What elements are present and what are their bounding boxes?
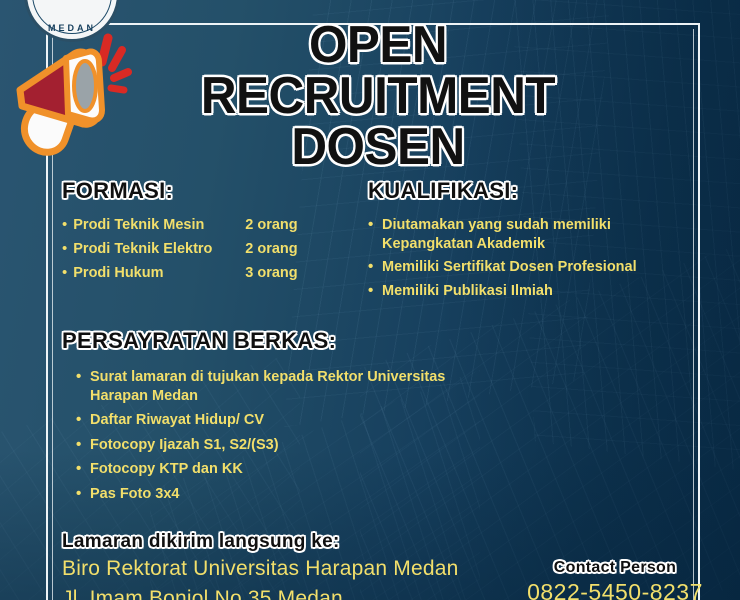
send-to-line-2: Jl. Imam Bonjol No 35 Medan: [62, 586, 522, 600]
megaphone-icon: [8, 28, 136, 160]
list-item: Fotocopy Ijazah S1, S2/(S3): [76, 436, 462, 455]
program-quota: 3 orang: [245, 265, 297, 281]
recruitment-poster: MEDAN OPEN RECRUITMENT DOSEN FORMAS: [0, 0, 740, 600]
berkas-section: PERSAYRATAN BERKAS: Surat lamaran di tuj…: [62, 328, 462, 509]
formasi-rows: • Prodi Teknik Mesin 2 orang • Prodi Tek…: [62, 217, 362, 281]
berkas-heading: PERSAYRATAN BERKAS:: [62, 328, 462, 354]
formasi-row: • Prodi Teknik Mesin 2 orang: [62, 217, 362, 233]
program-name: Prodi Teknik Mesin: [73, 217, 245, 233]
program-quota: 2 orang: [245, 217, 297, 233]
berkas-list: Surat lamaran di tujukan kepada Rektor U…: [62, 368, 462, 503]
list-item: Diutamakan yang sudah memiliki Kepangkat…: [368, 216, 698, 253]
contact-section: Contact Person 0822-5450-8237: [490, 559, 740, 600]
send-to-heading: Lamaran dikirim langsung ke:: [62, 531, 522, 553]
program-name: Prodi Hukum: [73, 265, 245, 281]
program-name: Prodi Teknik Elektro: [73, 241, 245, 257]
bullet-icon: •: [62, 241, 67, 256]
list-item: Memiliki Publikasi Ilmiah: [368, 282, 698, 301]
title-line-1: OPEN RECRUITMENT: [141, 20, 616, 122]
kualifikasi-heading: KUALIFIKASI:: [368, 178, 698, 204]
list-item: Pas Foto 3x4: [76, 485, 462, 504]
contact-phone: 0822-5450-8237: [490, 579, 740, 600]
formasi-section: FORMASI: • Prodi Teknik Mesin 2 orang • …: [62, 178, 362, 289]
title-line-2: DOSEN: [141, 122, 616, 173]
bullet-icon: •: [62, 217, 67, 232]
send-to-line-1: Biro Rektorat Universitas Harapan Medan: [62, 556, 522, 583]
kualifikasi-section: KUALIFIKASI: Diutamakan yang sudah memil…: [368, 178, 698, 305]
kualifikasi-list: Diutamakan yang sudah memiliki Kepangkat…: [368, 216, 698, 300]
program-quota: 2 orang: [245, 241, 297, 257]
send-to-section: Lamaran dikirim langsung ke: Biro Rektor…: [62, 531, 522, 600]
list-item: Fotocopy KTP dan KK: [76, 460, 462, 479]
list-item: Surat lamaran di tujukan kepada Rektor U…: [76, 368, 462, 405]
poster-title: OPEN RECRUITMENT DOSEN: [128, 20, 628, 173]
formasi-row: • Prodi Teknik Elektro 2 orang: [62, 241, 362, 257]
list-item: Daftar Riwayat Hidup/ CV: [76, 411, 462, 430]
formasi-heading: FORMASI:: [62, 178, 362, 204]
contact-heading: Contact Person: [490, 559, 740, 577]
formasi-row: • Prodi Hukum 3 orang: [62, 265, 362, 281]
list-item: Memiliki Sertifikat Dosen Profesional: [368, 258, 698, 277]
bullet-icon: •: [62, 265, 67, 280]
